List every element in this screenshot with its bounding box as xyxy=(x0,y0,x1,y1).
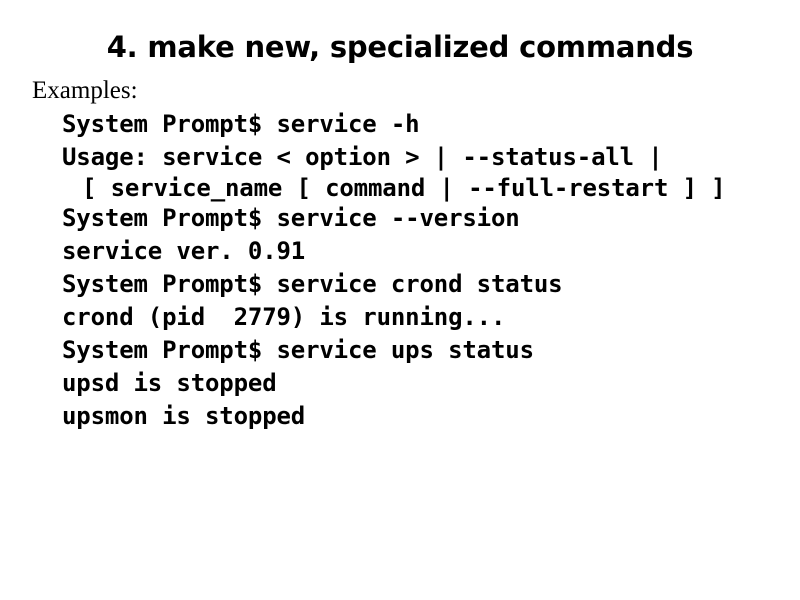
terminal-line-command: System Prompt$ service crond status xyxy=(62,268,792,301)
terminal-transcript: System Prompt$ service -h Usage: service… xyxy=(62,108,792,433)
terminal-line-output: service ver. 0.91 xyxy=(62,235,792,268)
terminal-line-command: System Prompt$ service -h xyxy=(62,108,792,141)
terminal-line-output: crond (pid 2779) is running... xyxy=(62,301,792,334)
terminal-line-command: System Prompt$ service --version xyxy=(62,202,792,235)
examples-label: Examples: xyxy=(32,76,138,106)
slide-canvas: 4. make new, specialized commands Exampl… xyxy=(0,0,800,600)
terminal-line-output-continuation: [ service_name [ command | --full-restar… xyxy=(62,174,792,202)
terminal-line-command: System Prompt$ service ups status xyxy=(62,334,792,367)
terminal-line-output: upsmon is stopped xyxy=(62,400,792,433)
terminal-line-output: Usage: service < option > | --status-all… xyxy=(62,141,792,174)
terminal-line-output: upsd is stopped xyxy=(62,367,792,400)
page-title: 4. make new, specialized commands xyxy=(0,28,800,66)
